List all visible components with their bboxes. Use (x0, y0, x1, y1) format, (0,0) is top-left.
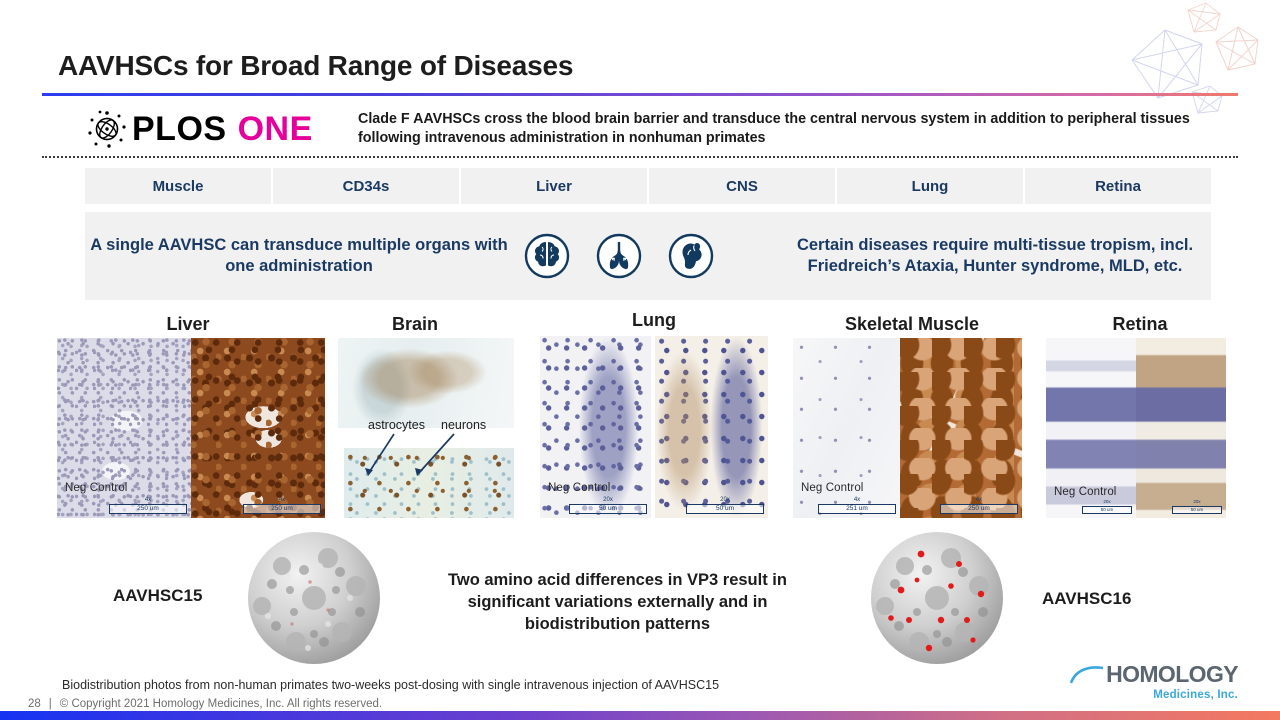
slide-number: 28 (28, 698, 41, 710)
homology-logo: HOMOLOGY Medicines, Inc. (1068, 663, 1238, 701)
statement-left: A single AAVHSC can transduce multiple o… (89, 235, 509, 277)
tissue-cell-lung[interactable]: Lung (837, 168, 1025, 204)
retina-transduced-image: 20x 50 um (1136, 338, 1226, 518)
title-divider (42, 93, 1238, 96)
footnote: Biodistribution photos from non-human pr… (62, 678, 719, 692)
scalebar-magnification: 20x (1082, 500, 1132, 505)
decorative-icosahedron-cluster (1110, 0, 1280, 115)
panel-title-liver: Liver (118, 314, 258, 335)
scalebar-lung-neg: 20x 50 um (569, 497, 647, 515)
homology-swoosh-icon (1070, 665, 1104, 687)
scalebar-length: 50 um (1082, 506, 1132, 515)
scalebar-liver-neg: 4x 250 um (109, 497, 187, 515)
liver-transduced-image: 4x 250 um (191, 338, 325, 518)
scalebar-length: 50 um (569, 504, 647, 515)
homology-name: HOMOLOGY (1106, 661, 1238, 687)
statement-band: A single AAVHSC can transduce multiple o… (85, 212, 1211, 300)
scalebar-length: 250 um (940, 504, 1018, 515)
capsid-comparison-caption: Two amino acid differences in VP3 result… (420, 570, 815, 636)
panel-title-brain: Brain (355, 314, 475, 335)
brain-icon (523, 232, 571, 280)
scalebar-length: 50 um (686, 504, 764, 515)
plos-wordmark: PLOS (132, 112, 227, 146)
tissue-cell-cd34s[interactable]: CD34s (273, 168, 461, 204)
scalebar-lung-pos: 20x 50 um (686, 497, 764, 515)
panel-title-retina: Retina (1080, 314, 1200, 335)
plos-one-logo: PLOS ONE (85, 107, 350, 151)
tissue-cell-liver[interactable]: Liver (461, 168, 649, 204)
lungs-icon (595, 232, 643, 280)
retina-neg-control-image: Neg Control 20x 50 um (1046, 338, 1136, 518)
scalebar-magnification: 20x (686, 497, 764, 503)
journal-citation-row: PLOS ONE Clade F AAVHSCs cross the blood… (85, 104, 1215, 154)
scalebar-magnification: 4x (818, 497, 896, 503)
neg-control-label-liver: Neg Control (65, 482, 127, 494)
scalebar-length: 50 um (1172, 506, 1222, 515)
tissue-type-bar: Muscle CD34s Liver CNS Lung Retina (85, 168, 1211, 204)
page-title: AAVHSCs for Broad Range of Diseases (58, 50, 573, 82)
homology-wordmark: HOMOLOGY (1068, 663, 1238, 686)
scalebar-length: 250 um (109, 504, 187, 515)
tissue-cell-cns[interactable]: CNS (649, 168, 837, 204)
dotted-divider (42, 156, 1238, 158)
brain-overview-image (338, 338, 514, 428)
scalebar-muscle-pos: 4x 250 um (940, 497, 1018, 515)
capsid-label-right: AAVHSC16 (1042, 589, 1131, 609)
plos-globe-icon (85, 107, 129, 151)
liver-neg-control-image: Neg Control 4x 250 um (57, 338, 191, 518)
copyright-row: 28 | © Copyright 2021 Homology Medicines… (28, 698, 382, 710)
panel-title-skeletal-muscle: Skeletal Muscle (812, 314, 1012, 335)
neg-control-label-muscle: Neg Control (801, 482, 863, 494)
muscle-transduced-image: 4x 250 um (900, 338, 1022, 518)
muscle-neg-control-image: Neg Control 4x 251 um (793, 338, 900, 518)
panel-title-lung: Lung (594, 310, 714, 331)
neg-control-label-retina: Neg Control (1054, 486, 1116, 498)
aavhsc15-capsid-model (232, 524, 396, 674)
lung-neg-control-image: Neg Control 20x 50 um (540, 336, 651, 518)
scalebar-magnification: 4x (940, 497, 1018, 503)
scalebar-muscle-neg: 4x 251 um (818, 497, 896, 515)
copyright-text: © Copyright 2021 Homology Medicines, Inc… (60, 698, 382, 710)
scalebar-length: 251 um (818, 504, 896, 515)
footer-gradient-bar (0, 711, 1280, 720)
tissue-cell-muscle[interactable]: Muscle (85, 168, 273, 204)
organ-icon-group (523, 232, 715, 280)
scalebar-magnification: 4x (109, 497, 187, 503)
scalebar-length: 250 um (243, 504, 321, 515)
aavhsc16-capsid-model (855, 524, 1019, 674)
tissue-cell-retina[interactable]: Retina (1025, 168, 1211, 204)
scalebar-magnification: 20x (1172, 500, 1222, 505)
heart-icon (667, 232, 715, 280)
lung-transduced-image: 20x 50 um (655, 336, 768, 518)
capsid-label-left: AAVHSC15 (113, 586, 202, 606)
scalebar-liver-pos: 4x 250 um (243, 497, 321, 515)
scalebar-retina-pos: 20x 50 um (1172, 500, 1222, 514)
statement-right: Certain diseases require multi-tissue tr… (785, 235, 1205, 277)
separator: | (49, 698, 52, 710)
homology-tagline: Medicines, Inc. (1068, 689, 1238, 701)
scalebar-magnification: 20x (569, 497, 647, 503)
journal-description: Clade F AAVHSCs cross the blood brain ba… (358, 110, 1198, 148)
annotation-arrows-brain (336, 430, 516, 482)
scalebar-retina-neg: 20x 50 um (1082, 500, 1132, 514)
neg-control-label-lung: Neg Control (548, 482, 610, 494)
one-wordmark: ONE (238, 112, 313, 146)
scalebar-magnification: 4x (243, 497, 321, 503)
